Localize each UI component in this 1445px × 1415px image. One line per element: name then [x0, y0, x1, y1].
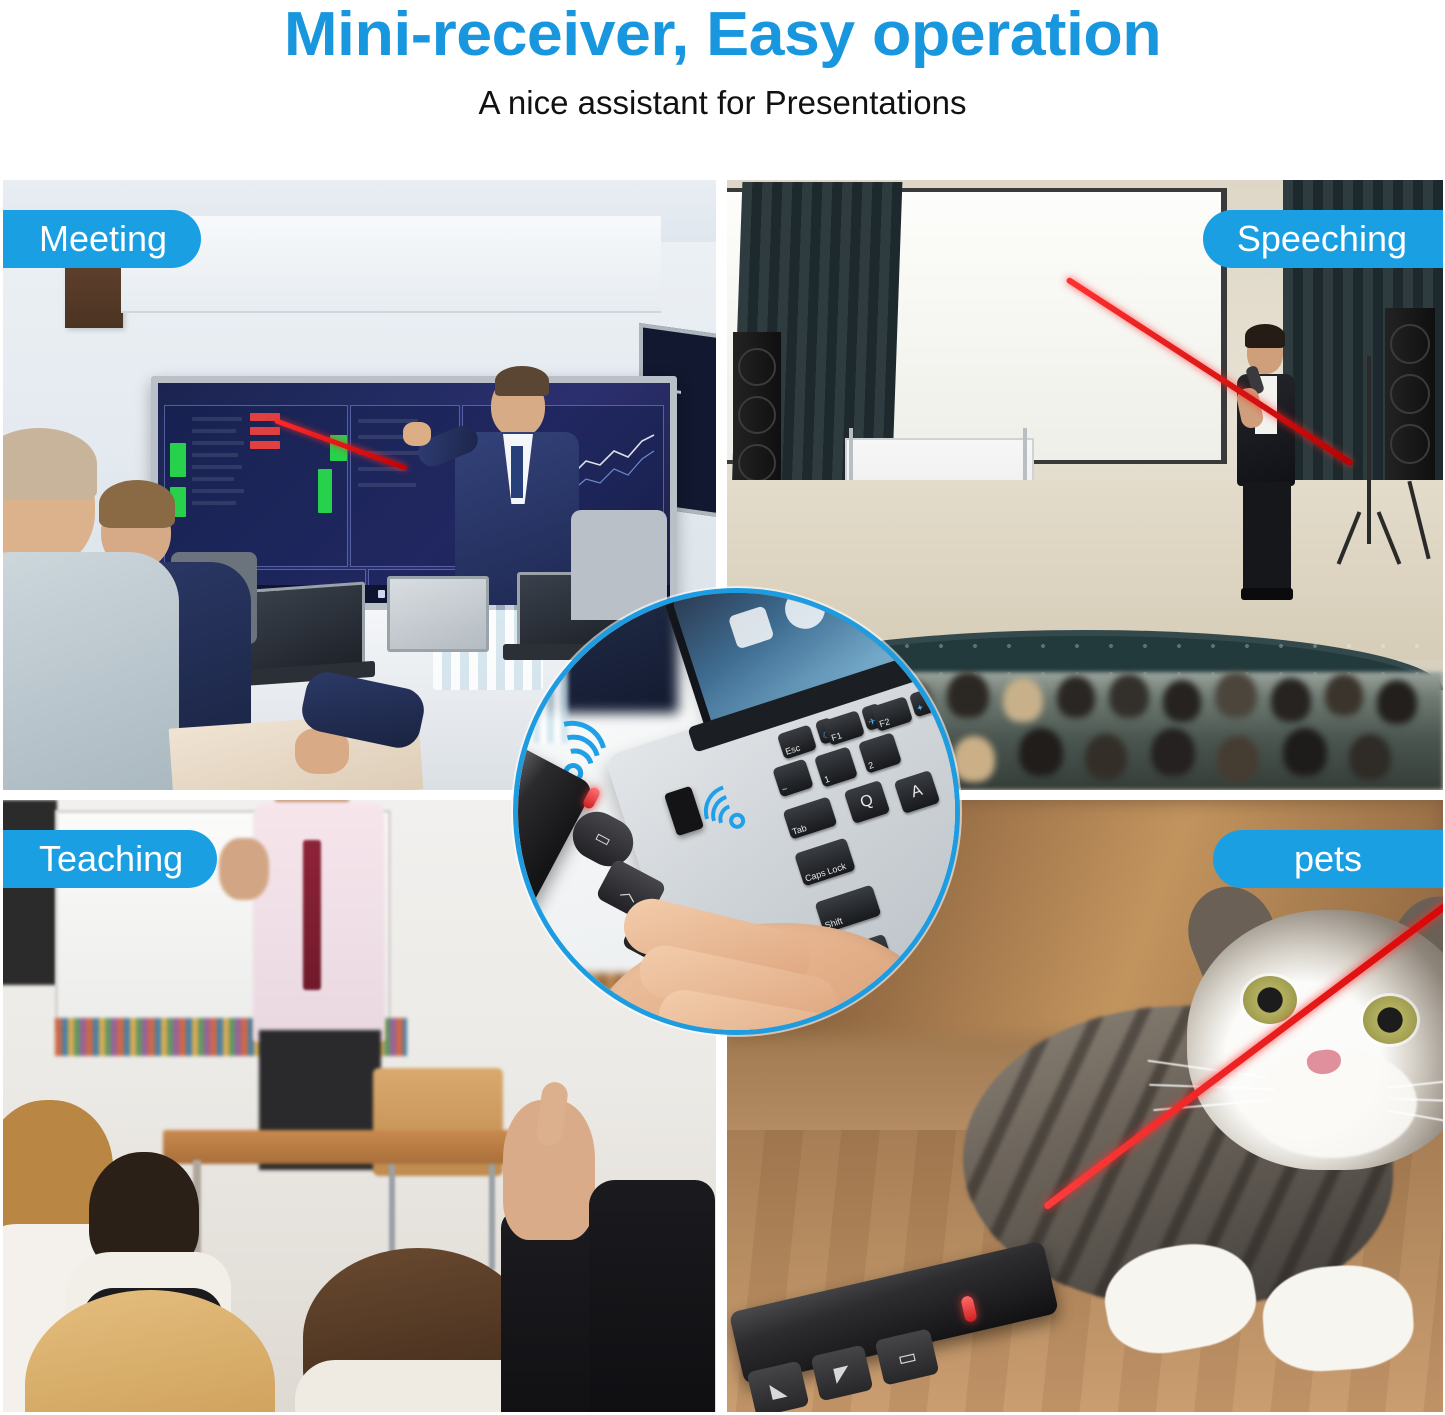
attendee-hair — [99, 480, 175, 528]
display-data-row — [192, 429, 236, 433]
remote-body — [513, 743, 595, 1035]
display-data-row — [192, 477, 234, 481]
teacher-tie — [303, 840, 321, 990]
presenter-shoes — [1241, 588, 1293, 600]
laptop-screen — [387, 576, 489, 652]
page-subtitle: A nice assistant for Presentations — [0, 82, 1445, 124]
disk-icon — [780, 588, 830, 634]
student-right-shoulder — [589, 1180, 715, 1412]
header: Mini-receiver, Easy operation A nice ass… — [0, 0, 1445, 178]
display-green-bar — [318, 469, 332, 513]
teacher-hand — [219, 838, 269, 900]
display-red-bar — [250, 427, 280, 435]
display-data-row — [192, 489, 244, 493]
badge-meeting: Meeting — [3, 210, 201, 268]
cat-eye-left — [1243, 976, 1297, 1024]
closeup-circle-overlay: Esc ☾ F1 ✈ F2 ✦ ~ 1 2 Tab Q A Caps Lock … — [513, 588, 960, 1035]
cat-eye-right — [1363, 996, 1417, 1044]
badge-teaching: Teaching — [3, 830, 217, 888]
chair-leg — [489, 1160, 495, 1270]
presenter-hand — [403, 422, 431, 446]
wall-frame — [3, 800, 57, 985]
page-title: Mini-receiver, Easy operation — [0, 2, 1445, 68]
display-red-bar — [250, 441, 280, 449]
display-data-row — [192, 501, 236, 505]
presenter-remote-pets: ▭ ◤ ◣ — [737, 1290, 1067, 1408]
display-data-row — [192, 465, 242, 469]
badge-speeching: Speeching — [1203, 210, 1443, 268]
speaker-stand-pole — [1367, 356, 1371, 544]
badge-pets: pets — [1213, 830, 1443, 888]
display-data-row — [192, 441, 244, 445]
classroom-desk — [163, 1130, 553, 1164]
finder-icon — [728, 605, 775, 649]
display-data-row — [192, 453, 238, 457]
display-data-row — [358, 483, 416, 487]
product-feature-image: Mini-receiver, Easy operation A nice ass… — [0, 0, 1445, 1415]
presenter-trousers — [1243, 482, 1291, 592]
display-green-bar — [170, 443, 186, 477]
display-data-row — [192, 417, 242, 421]
presenter-hair — [495, 366, 549, 396]
wall-cabinet — [121, 216, 661, 313]
presenter-hair — [1245, 324, 1285, 348]
app-icon — [834, 588, 879, 617]
presenter-tie — [511, 446, 523, 498]
attendee-jacket — [3, 552, 179, 790]
